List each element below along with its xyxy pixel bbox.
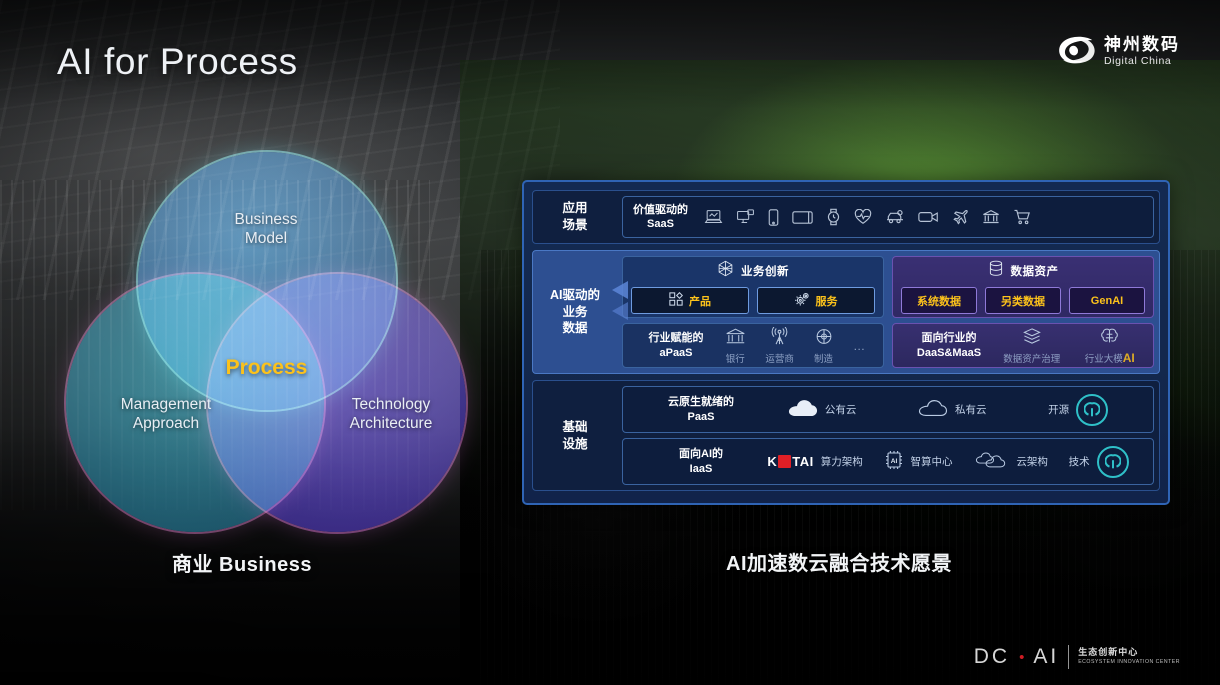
shopping-cart-icon	[1013, 209, 1032, 225]
row-label-line2: 场景	[562, 217, 587, 234]
row-label-line1: 应用	[562, 200, 587, 217]
venn-diagram: Business Model Management Approach Techn…	[66, 152, 466, 512]
bank-icon	[982, 209, 1000, 225]
iaas-title-line2: IaaS	[641, 462, 761, 476]
apaas-title-line2: aPaaS	[633, 346, 719, 360]
saas-title-line2: SaaS	[633, 217, 688, 231]
chip-product-label: 产品	[689, 293, 711, 309]
mini-manufacturing-label: 制造	[814, 351, 833, 365]
apaas-title: 行业赋能的 aPaaS	[633, 331, 719, 360]
chip-alternative-data[interactable]: 另类数据	[985, 287, 1061, 314]
mini-operator: 运营商	[765, 327, 794, 365]
chip-system-data[interactable]: 系统数据	[901, 287, 977, 314]
row-label-application-scenarios: 应用 场景	[533, 191, 617, 243]
brand-name-en: Digital China	[1104, 56, 1180, 67]
cloud-filled-icon	[788, 400, 818, 420]
caption-ai-cloud-vision: AI加速数云融合技术愿景	[726, 547, 952, 576]
row-label-infrastructure: 基础 设施	[533, 381, 617, 490]
item-intelligent-computing-center-label: 智算中心	[911, 454, 953, 469]
iaas-line-content: 面向AI的 IaaS KTAI 算力架构 AI	[633, 446, 1143, 478]
scenario-icon-row	[704, 208, 1032, 226]
venn-label-line1: Business	[211, 210, 321, 229]
row-body-infrastructure: 云原生就绪的 PaaS 公有云 私有云	[617, 381, 1159, 490]
mini-bank-label: 银行	[726, 351, 745, 365]
paas-title-line1: 云原生就绪的	[641, 395, 761, 409]
item-public-cloud: 公有云	[788, 400, 857, 420]
item-private-cloud: 私有云	[918, 400, 987, 420]
multi-cloud-icon	[973, 451, 1009, 472]
gears-icon	[795, 292, 810, 309]
row-body-application-scenarios: 价值驱动的 SaaS	[617, 191, 1159, 243]
column-business-innovation: 业务创新 产品 服务	[622, 256, 884, 368]
apaas-industry-items: 银行 运营商 制造 …	[719, 327, 873, 365]
factory-gear-icon	[814, 327, 834, 349]
heartbeat-icon	[854, 209, 872, 225]
chip-alternative-data-label: 另类数据	[1001, 293, 1045, 309]
row-label-line2: 设施	[562, 436, 587, 453]
paas-line[interactable]: 云原生就绪的 PaaS 公有云 私有云	[622, 386, 1154, 433]
desktop-monitor-icon	[736, 209, 755, 225]
iaas-items: KTAI 算力架构 AI 智算中心 云架构	[761, 446, 1135, 478]
venn-label-process: Process	[194, 356, 339, 380]
item-compute-architecture-label: 算力架构	[821, 454, 863, 469]
apaas-more-dots: …	[853, 339, 867, 353]
mini-data-governance-label: 数据资产治理	[1003, 351, 1060, 365]
item-cloud-architecture-label: 云架构	[1016, 454, 1048, 469]
daas-maas-items: 数据资产治理 行业大模AI	[995, 327, 1143, 365]
signal-tower-icon	[769, 327, 790, 349]
ai-chip-icon: AI	[884, 450, 904, 473]
paas-line-content: 云原生就绪的 PaaS 公有云 私有云	[633, 394, 1143, 426]
daas-maas-block[interactable]: 面向行业的 DaaS&MaaS 数据资产治理 行业大模AI	[892, 323, 1154, 368]
architecture-diagram-panel: 应用 场景 价值驱动的 SaaS	[522, 180, 1170, 505]
slide-canvas: AI for Process 神州数码 Digital China Busine…	[0, 0, 1220, 685]
footer-dc-text: DC	[974, 645, 1010, 669]
chip-service-label: 服务	[816, 293, 838, 309]
data-assets-header: 数据资产	[988, 260, 1059, 282]
chip-genai-label: GenAI	[1091, 295, 1123, 307]
item-public-cloud-label: 公有云	[825, 402, 857, 417]
mini-data-governance: 数据资产治理	[1003, 327, 1060, 365]
row-label-line3: 数据	[550, 320, 600, 337]
saas-box[interactable]: 价值驱动的 SaaS	[622, 196, 1154, 238]
venn-label-business-model: Business Model	[211, 210, 321, 249]
business-innovation-chips: 产品 服务	[631, 287, 875, 314]
mini-manufacturing: 制造	[814, 327, 834, 365]
kutai-u-block	[778, 455, 791, 468]
kutai-k: K	[767, 454, 777, 469]
venn-label-technology-architecture: Technology Architecture	[311, 395, 471, 434]
paas-title-line2: PaaS	[641, 410, 761, 424]
brand-logo: 神州数码 Digital China	[1055, 34, 1180, 68]
page-title: AI for Process	[57, 41, 298, 83]
mini-industry-large-model-label: 行业大模AI	[1085, 351, 1135, 365]
data-assets-title: 数据资产	[1011, 263, 1059, 279]
row-label-line1: 基础	[562, 419, 587, 436]
footer-center-en: ECOSYSTEM INNOVATION CENTER	[1078, 660, 1180, 666]
paas-title: 云原生就绪的 PaaS	[641, 395, 761, 424]
kutai-tai: TAI	[792, 454, 813, 469]
item-intelligent-computing-center: AI 智算中心	[884, 450, 953, 473]
saas-title: 价值驱动的 SaaS	[633, 203, 688, 232]
footer-divider	[1068, 645, 1069, 669]
layered-data-icon	[1021, 327, 1043, 349]
row-infrastructure: 基础 设施 云原生就绪的 PaaS 公有云	[532, 380, 1160, 491]
brain-circuit-icon	[1099, 327, 1120, 349]
apaas-title-line1: 行业赋能的	[633, 331, 719, 345]
iaas-title: 面向AI的 IaaS	[641, 447, 761, 476]
venn-label-line2: Architecture	[311, 414, 471, 433]
business-innovation-title: 业务创新	[741, 263, 789, 279]
mini-industry-large-model: 行业大模AI	[1085, 327, 1135, 365]
venn-label-line1: Technology	[311, 395, 471, 414]
chip-genai[interactable]: GenAI	[1069, 287, 1145, 314]
swirl-logo-icon	[1055, 34, 1095, 68]
saas-title-line1: 价值驱动的	[633, 203, 688, 217]
video-camera-icon	[918, 210, 939, 224]
open-source-badge-icon	[1097, 446, 1129, 478]
smartphone-icon	[768, 209, 779, 226]
tablet-icon	[792, 210, 813, 225]
daas-maas-title: 面向行业的 DaaS&MaaS	[903, 331, 995, 360]
mini-bank: 银行	[725, 327, 746, 365]
row-label-line1: AI驱动的	[550, 287, 600, 304]
item-technology: 技术	[1069, 446, 1129, 478]
mini-operator-label: 运营商	[765, 351, 794, 365]
item-technology-label: 技术	[1069, 454, 1090, 469]
smartwatch-icon	[826, 208, 841, 226]
data-assets-chips: 系统数据 另类数据 GenAI	[901, 287, 1145, 314]
apaas-block[interactable]: 行业赋能的 aPaaS 银行 运营商	[622, 323, 884, 368]
footer-ai-text: AI	[1033, 645, 1059, 669]
bank-icon	[725, 327, 746, 349]
item-compute-architecture: KTAI 算力架构	[767, 454, 862, 469]
business-data-columns: 业务创新 产品 服务	[622, 256, 1154, 368]
laptop-chart-icon	[704, 209, 723, 225]
venn-label-line2: Approach	[86, 414, 246, 433]
item-open-source: 开源	[1048, 394, 1108, 426]
business-innovation-header: 业务创新	[717, 260, 789, 282]
item-private-cloud-label: 私有云	[955, 402, 987, 417]
car-icon	[885, 209, 905, 225]
row-ai-driven-business-data: AI驱动的 业务 数据 业务创新	[532, 250, 1160, 374]
footer-logo: DC • AI 生态创新中心 ECOSYSTEM INNOVATION CENT…	[974, 645, 1180, 669]
item-cloud-architecture: 云架构	[973, 451, 1048, 472]
airplane-icon	[952, 209, 969, 225]
business-innovation-block[interactable]: 业务创新 产品 服务	[622, 256, 884, 318]
daas-maas-title-line2: DaaS&MaaS	[903, 346, 995, 360]
brand-name-cn: 神州数码	[1104, 36, 1180, 53]
footer-dot-icon: •	[1019, 649, 1024, 666]
venn-label-line1: Management	[86, 395, 246, 414]
open-source-badge-icon	[1076, 394, 1108, 426]
chip-system-data-label: 系统数据	[917, 293, 961, 309]
iaas-title-line1: 面向AI的	[641, 447, 761, 461]
column-data-assets: 数据资产 系统数据 另类数据 GenAI	[892, 256, 1154, 368]
cube-mesh-icon	[717, 260, 734, 282]
svg-text:AI: AI	[890, 458, 897, 465]
caption-business: 商业 Business	[172, 548, 312, 577]
blocks-icon	[669, 292, 683, 309]
footer-center-cn: 生态创新中心	[1078, 648, 1180, 658]
paas-items: 公有云 私有云 开源	[761, 394, 1135, 426]
cloud-outline-icon	[918, 400, 948, 420]
chip-service[interactable]: 服务	[757, 287, 875, 314]
row-label-line2: 业务	[550, 304, 600, 321]
iaas-line[interactable]: 面向AI的 IaaS KTAI 算力架构 AI	[622, 438, 1154, 485]
item-open-source-label: 开源	[1048, 402, 1069, 417]
chip-product[interactable]: 产品	[631, 287, 749, 314]
venn-label-management-approach: Management Approach	[86, 395, 246, 434]
kutai-logo-icon: KTAI	[767, 454, 813, 469]
row-body-ai-driven-business-data: 业务创新 产品 服务	[617, 251, 1159, 373]
database-icon	[988, 260, 1004, 282]
venn-label-line2: Model	[211, 229, 321, 248]
data-assets-block[interactable]: 数据资产 系统数据 另类数据 GenAI	[892, 256, 1154, 318]
row-label-ai-driven-business-data: AI驱动的 业务 数据	[533, 251, 617, 373]
row-application-scenarios: 应用 场景 价值驱动的 SaaS	[532, 190, 1160, 244]
daas-maas-title-line1: 面向行业的	[903, 331, 995, 345]
